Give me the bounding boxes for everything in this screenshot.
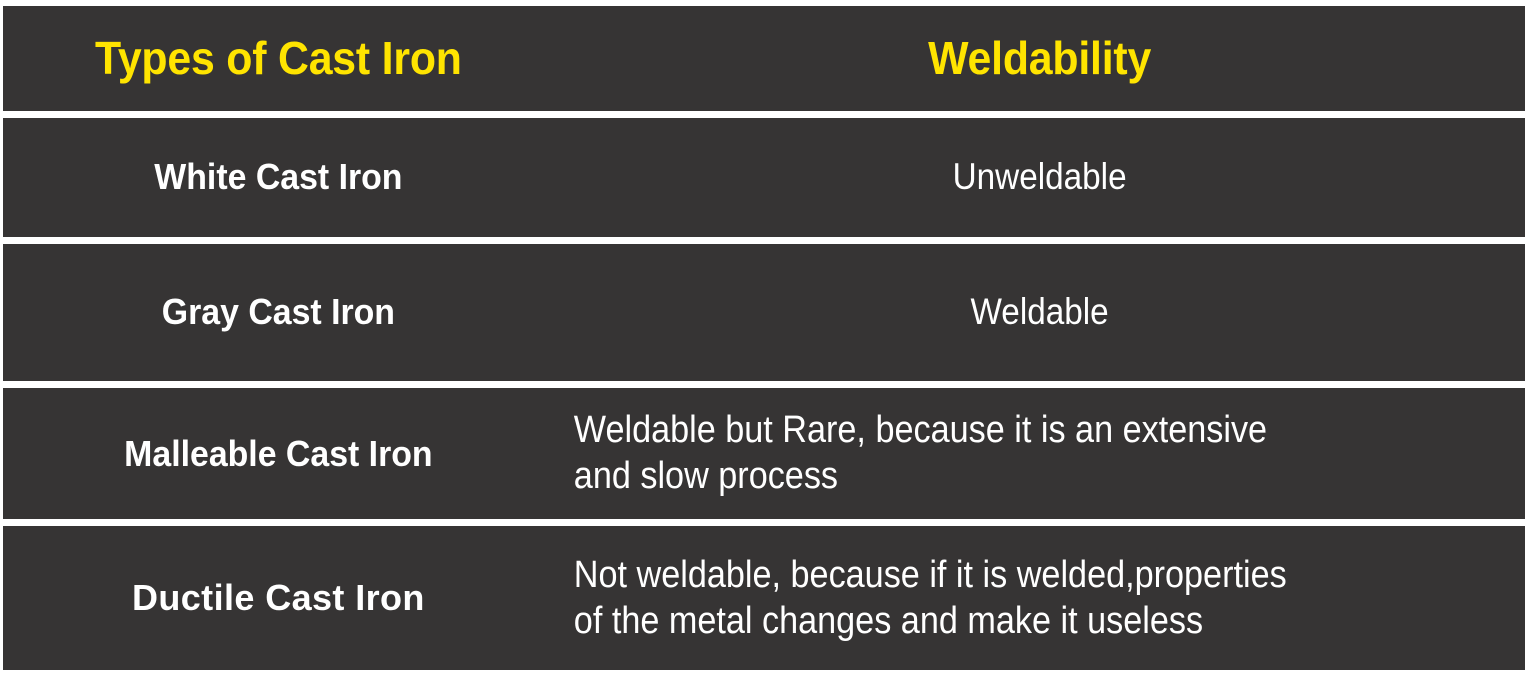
type-label-white-cast-iron: White Cast Iron bbox=[20, 157, 538, 197]
cell-type-white-cast-iron: White Cast Iron bbox=[3, 118, 554, 244]
weldability-label-malleable-cast-iron: Weldable but Rare, because it is an exte… bbox=[554, 407, 1428, 500]
cell-weldability-white-cast-iron: Unweldable bbox=[554, 118, 1525, 244]
type-label-ductile-cast-iron: Ductile Cast Iron bbox=[3, 578, 554, 618]
cell-type-gray-cast-iron: Gray Cast Iron bbox=[3, 244, 554, 388]
type-label-gray-cast-iron: Gray Cast Iron bbox=[20, 292, 538, 332]
table-container: Types of Cast Iron Weldability White Cas… bbox=[0, 0, 1536, 679]
header-label-types-of-cast-iron: Types of Cast Iron bbox=[22, 34, 534, 82]
header-cell-weldability: Weldability bbox=[554, 6, 1525, 118]
header-label-weldability: Weldability bbox=[588, 34, 1491, 82]
cast-iron-weldability-table: Types of Cast Iron Weldability White Cas… bbox=[3, 6, 1525, 670]
cell-weldability-malleable-cast-iron: Weldable but Rare, because it is an exte… bbox=[554, 388, 1525, 527]
type-label-malleable-cast-iron: Malleable Cast Iron bbox=[20, 434, 538, 474]
cell-type-malleable-cast-iron: Malleable Cast Iron bbox=[3, 388, 554, 527]
weldability-label-white-cast-iron: Unweldable bbox=[602, 157, 1476, 198]
cell-weldability-gray-cast-iron: Weldable bbox=[554, 244, 1525, 388]
header-cell-types-of-cast-iron: Types of Cast Iron bbox=[3, 6, 554, 118]
weldability-label-gray-cast-iron: Weldable bbox=[602, 292, 1476, 333]
table-header-row: Types of Cast Iron Weldability bbox=[3, 6, 1525, 118]
cell-weldability-ductile-cast-iron: Not weldable, because if it is welded,pr… bbox=[554, 526, 1525, 670]
table-row: Ductile Cast Iron Not weldable, because … bbox=[3, 526, 1525, 670]
table-row: Gray Cast Iron Weldable bbox=[3, 244, 1525, 388]
table-row: Malleable Cast Iron Weldable but Rare, b… bbox=[3, 388, 1525, 527]
weldability-label-ductile-cast-iron: Not weldable, because if it is welded,pr… bbox=[554, 552, 1428, 645]
cell-type-ductile-cast-iron: Ductile Cast Iron bbox=[3, 526, 554, 670]
table-row: White Cast Iron Unweldable bbox=[3, 118, 1525, 244]
